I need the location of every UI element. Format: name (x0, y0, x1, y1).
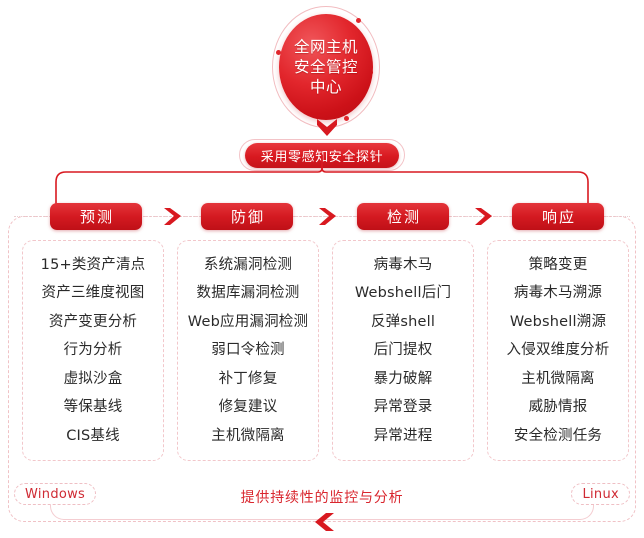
list-item: 策略变更 (529, 257, 588, 274)
hub-title-line-2: 安全管控 (294, 57, 358, 77)
stage-header-label: 防御 (229, 206, 265, 227)
hub-dot-icon (344, 116, 349, 121)
list-item: CIS基线 (66, 428, 120, 445)
stage-card-respond[interactable]: 策略变更 病毒木马溯源 Webshell溯源 入侵双维度分析 主机微隔离 威胁情… (487, 240, 629, 461)
stage-card-predict[interactable]: 15+类资产清点 资产三维度视图 资产变更分析 行为分析 虚拟沙盒 等保基线 C… (22, 240, 164, 461)
chevron-right-icon (474, 208, 493, 225)
list-item: 15+类资产清点 (41, 257, 146, 274)
list-item: 补丁修复 (219, 371, 278, 388)
list-item: 行为分析 (64, 342, 123, 359)
stage-card-defend[interactable]: 系统漏洞检测 数据库漏洞检测 Web应用漏洞检测 弱口令检测 补丁修复 修复建议… (177, 240, 319, 461)
chevron-right-icon (318, 208, 337, 225)
list-item: 等保基线 (64, 399, 123, 416)
list-item: 病毒木马溯源 (514, 285, 602, 302)
diagram-canvas: 全网主机 安全管控 中心 采用零感知安全探针 预测 防御 检测 响应 (0, 0, 644, 538)
stage-card-detect[interactable]: 病毒木马 Webshell后门 反弹shell 后门提权 暴力破解 异常登录 异… (332, 240, 474, 461)
footer-note: 提供持续性的监控与分析 (0, 487, 644, 507)
chevron-left-icon (310, 513, 334, 531)
hub-node[interactable]: 全网主机 安全管控 中心 (272, 6, 380, 128)
hub-title-line-3: 中心 (310, 77, 342, 97)
hub-dot-icon (356, 18, 361, 23)
stage-header-label: 响应 (540, 206, 576, 227)
stage-header-label: 检测 (385, 206, 421, 227)
list-item: 威胁情报 (529, 399, 588, 416)
list-item: 系统漏洞检测 (204, 257, 292, 274)
list-item: 后门提权 (374, 342, 433, 359)
list-item: 资产三维度视图 (42, 285, 145, 302)
list-item: 数据库漏洞检测 (197, 285, 300, 302)
stage-header-respond[interactable]: 响应 (512, 203, 604, 230)
list-item: Webshell后门 (355, 285, 451, 302)
probe-pill-label: 采用零感知安全探针 (261, 146, 383, 165)
list-item: 弱口令检测 (211, 342, 285, 359)
list-item: 主机微隔离 (211, 428, 285, 445)
list-item: 异常登录 (374, 399, 433, 416)
list-item: 修复建议 (219, 399, 278, 416)
hub-title-bubble: 全网主机 安全管控 中心 (279, 14, 373, 120)
list-item: 入侵双维度分析 (507, 342, 610, 359)
list-item: 异常进程 (374, 428, 433, 445)
stage-header-predict[interactable]: 预测 (50, 203, 142, 230)
stage-header-label: 预测 (78, 206, 114, 227)
list-item: 安全检测任务 (514, 428, 602, 445)
list-item: 资产变更分析 (49, 314, 137, 331)
stage-header-defend[interactable]: 防御 (201, 203, 293, 230)
list-item: 主机微隔离 (521, 371, 595, 388)
list-item: 暴力破解 (374, 371, 433, 388)
probe-pill[interactable]: 采用零感知安全探针 (245, 143, 399, 168)
chevron-down-icon (317, 119, 337, 136)
chevron-right-icon (163, 208, 182, 225)
list-item: 虚拟沙盒 (64, 371, 123, 388)
stage-header-detect[interactable]: 检测 (357, 203, 449, 230)
list-item: Webshell溯源 (510, 314, 606, 331)
list-item: 病毒木马 (374, 257, 433, 274)
hub-title-line-1: 全网主机 (294, 37, 358, 57)
list-item: Web应用漏洞检测 (188, 314, 308, 331)
list-item: 反弹shell (371, 314, 435, 331)
